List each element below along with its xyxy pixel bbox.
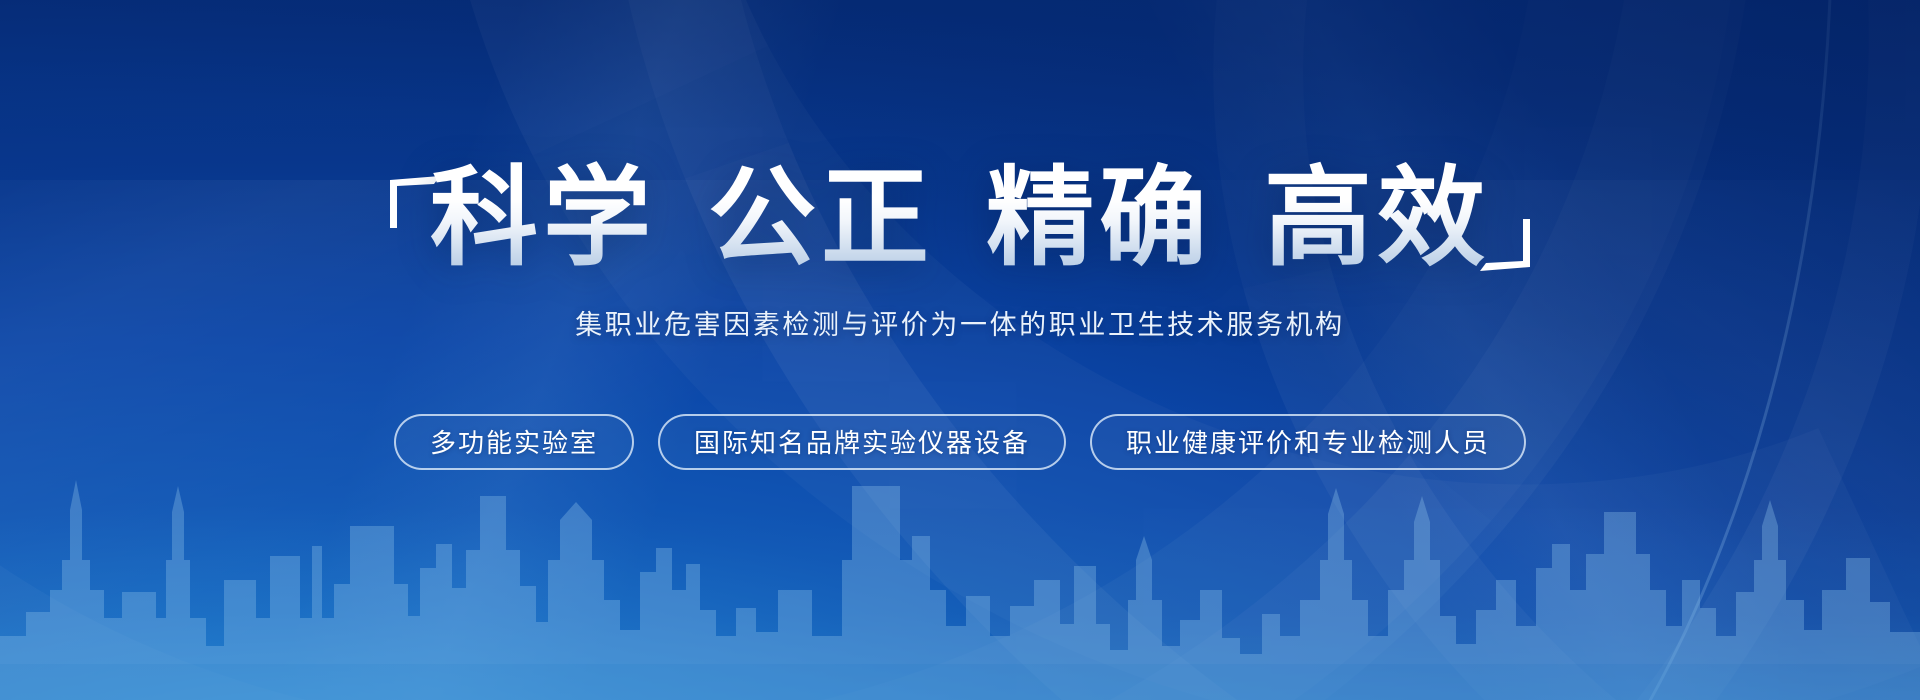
headline-block: 科学 公正 精确 高效 (384, 158, 1536, 279)
feature-pill-lab[interactable]: 多功能实验室 (394, 414, 634, 470)
feature-pill-row: 多功能实验室 国际知名品牌实验仪器设备 职业健康评价和专业检测人员 (394, 414, 1526, 470)
headline-word-3: 精确 (986, 158, 1212, 279)
banner-subtitle: 集职业危害因素检测与评价为一体的职业卫生技术服务机构 (575, 303, 1345, 342)
headline-word-2: 公正 (708, 158, 934, 279)
page-title: 科学 公正 精确 高效 (430, 158, 1490, 279)
headline-word-4: 高效 (1264, 158, 1490, 279)
feature-pill-equipment[interactable]: 国际知名品牌实验仪器设备 (658, 414, 1066, 470)
banner-content: 科学 公正 精确 高效 集职业危害因素检测与评价为一体的职业卫生技术服务机构 多… (0, 0, 1920, 700)
hero-banner: 科学 公正 精确 高效 集职业危害因素检测与评价为一体的职业卫生技术服务机构 多… (0, 0, 1920, 700)
feature-pill-staff[interactable]: 职业健康评价和专业检测人员 (1090, 414, 1526, 470)
headline-word-1: 科学 (430, 158, 656, 279)
